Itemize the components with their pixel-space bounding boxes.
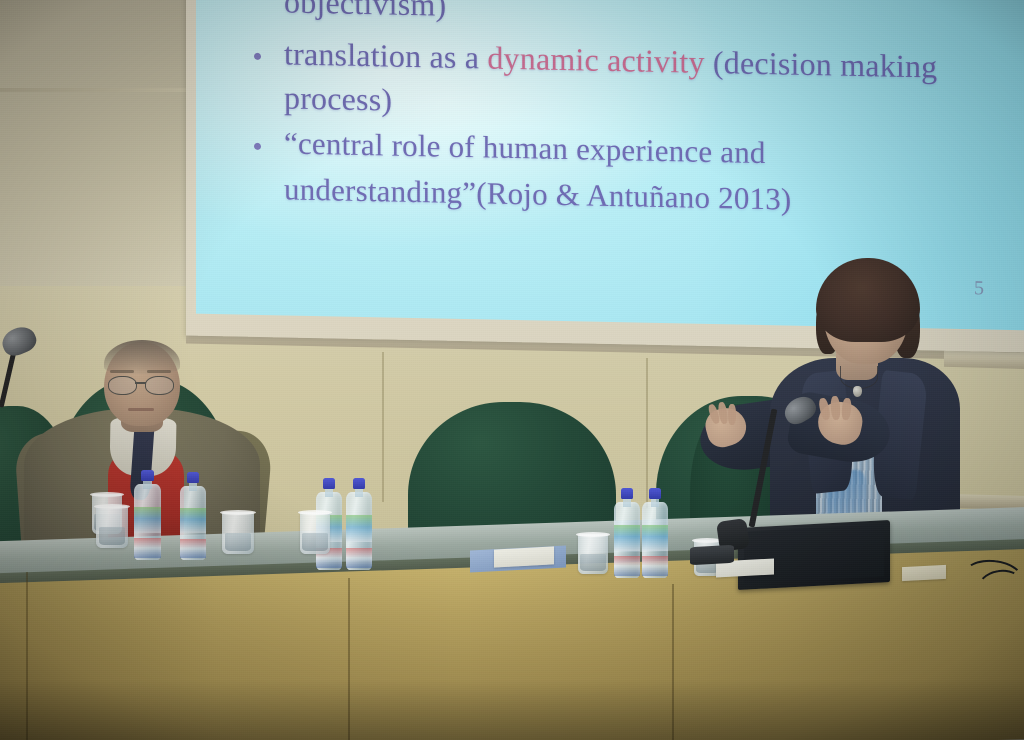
man-eyeglasses-left-lens bbox=[108, 376, 137, 395]
papers-right bbox=[902, 565, 946, 581]
slide-line-translation: translation as a dynamic activity (decis… bbox=[284, 35, 937, 85]
bottle-6-cap bbox=[649, 488, 661, 499]
cup-5-rim bbox=[576, 532, 610, 537]
wall-rail-right bbox=[944, 351, 1024, 370]
bottle-5-body bbox=[614, 502, 640, 578]
cup-5-contents bbox=[580, 554, 605, 571]
slide-line-translation-pre: translation as a bbox=[284, 35, 487, 75]
bottle-6-body bbox=[642, 502, 668, 578]
bottle-3-cap bbox=[323, 478, 335, 489]
slide-line-translation-post: (decision making bbox=[705, 44, 938, 85]
bottle-4 bbox=[346, 478, 372, 570]
bottle-5-label bbox=[614, 525, 640, 551]
papers-center bbox=[494, 546, 554, 567]
bottle-6-label bbox=[642, 525, 668, 551]
wall-panel-seam-2 bbox=[646, 358, 648, 508]
cup-3-contents bbox=[225, 533, 252, 551]
bottle-2-label bbox=[180, 508, 206, 533]
bottle-4-label-lower bbox=[346, 548, 372, 568]
wall-panel-seam-1 bbox=[382, 352, 384, 502]
man-eyeglasses-bridge bbox=[135, 382, 146, 384]
bottle-2-cap bbox=[187, 472, 199, 483]
cup-4-contents bbox=[302, 533, 327, 551]
cup-3-rim bbox=[220, 510, 256, 515]
bottle-1-label bbox=[134, 507, 161, 533]
bottom-shadow bbox=[0, 680, 1024, 740]
woman-necklace-pendant bbox=[853, 386, 862, 397]
bottle-1-cap bbox=[141, 470, 154, 481]
slide-bullet-3 bbox=[254, 143, 261, 150]
bottle-1-body bbox=[134, 484, 161, 560]
bottle-1 bbox=[134, 470, 161, 560]
cup-4 bbox=[300, 512, 330, 554]
bottle-4-body bbox=[346, 492, 372, 570]
slide-line-translation-accent: dynamic activity bbox=[487, 39, 704, 79]
bottle-2-body bbox=[180, 486, 206, 560]
bottle-5-label-lower bbox=[614, 556, 640, 576]
cup-5 bbox=[578, 534, 608, 574]
wall-upper-shadow bbox=[0, 0, 210, 290]
slide-line-objectivism: objectivism) bbox=[284, 0, 446, 24]
slide-number: 5 bbox=[974, 277, 984, 300]
cup-4-rim bbox=[298, 510, 332, 515]
slide-line-central-role: “central role of human experience and bbox=[284, 125, 766, 171]
bottle-1-label-lower bbox=[134, 538, 161, 558]
slide-bullet-2 bbox=[254, 53, 261, 60]
man-mouth bbox=[128, 408, 154, 411]
wall-seam-line bbox=[0, 88, 200, 92]
cup-3 bbox=[222, 512, 254, 554]
bottle-2-label-lower bbox=[180, 539, 206, 558]
bottle-5-cap bbox=[621, 488, 633, 499]
man-eyeglasses-right-lens bbox=[145, 376, 174, 395]
bottle-4-label bbox=[346, 515, 372, 542]
bottle-6-label-lower bbox=[642, 556, 668, 576]
bottle-6 bbox=[642, 488, 668, 578]
photo-scene: objectivism) translation as a dynamic ac… bbox=[0, 0, 1024, 740]
slide-line-citation: understanding”(Rojo & Antuñano 2013) bbox=[284, 171, 791, 217]
man-eyebrow-left bbox=[110, 370, 134, 373]
cup-2-contents bbox=[99, 527, 126, 545]
bottle-4-cap bbox=[353, 478, 365, 489]
woman-left-hand-finger-3 bbox=[728, 404, 736, 425]
cup-1-rim bbox=[90, 492, 124, 497]
cup-2-rim bbox=[94, 504, 130, 509]
bottle-5 bbox=[614, 488, 640, 578]
bottle-2 bbox=[180, 472, 206, 560]
slide-line-process: process) bbox=[284, 79, 392, 118]
microphone-center-base bbox=[690, 545, 734, 565]
man-eyebrow-right bbox=[147, 370, 171, 373]
cup-2 bbox=[96, 506, 128, 548]
